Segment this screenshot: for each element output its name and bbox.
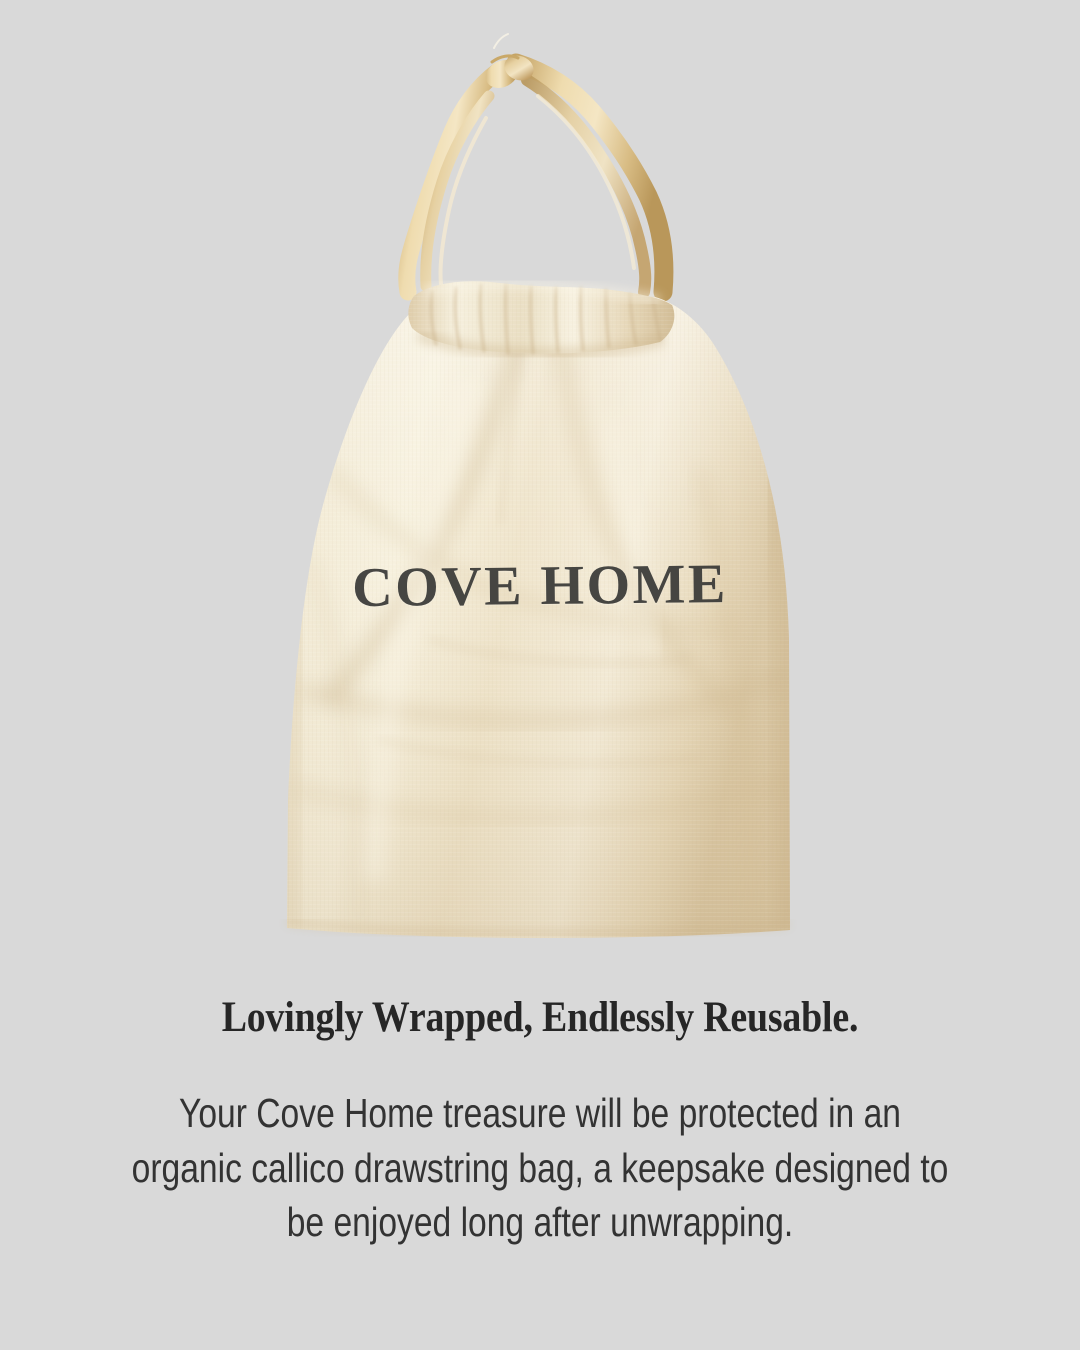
- caption-headline: Lovingly Wrapped, Endlessly Reusable.: [65, 995, 1015, 1040]
- caption-body: Your Cove Home treasure will be protecte…: [97, 1086, 983, 1250]
- bag-body: [287, 297, 790, 940]
- product-photo: [0, 0, 1080, 975]
- caption-block: Lovingly Wrapped, Endlessly Reusable. Yo…: [0, 995, 1080, 1250]
- product-promo-card: COVE HOME Lovingly Wrapped, Endlessly Re…: [0, 0, 1080, 1350]
- bag-gathered-neck: [408, 281, 674, 353]
